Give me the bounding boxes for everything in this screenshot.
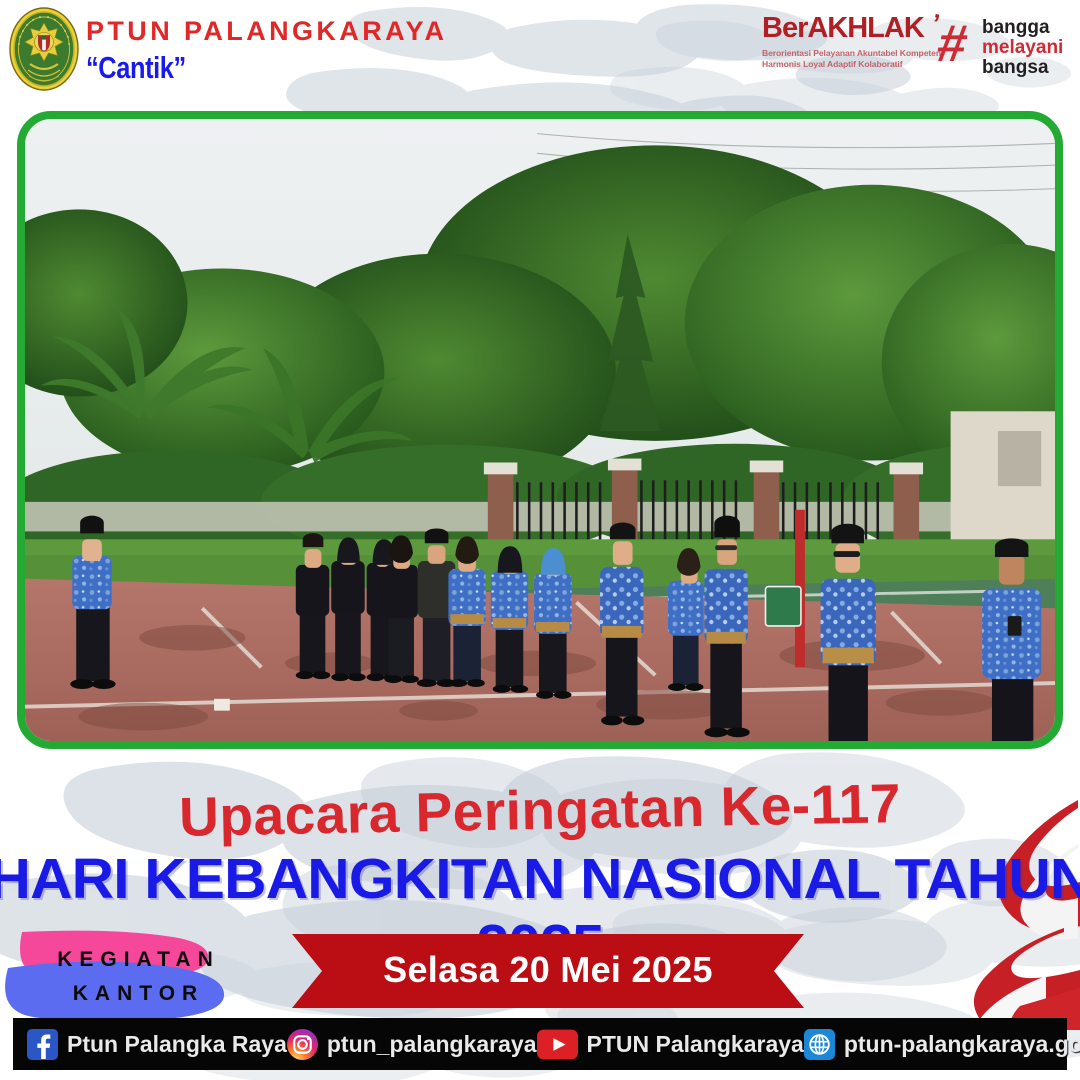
slogan-line-3: bangsa <box>982 58 1049 77</box>
badge-line-2: KANTOR <box>4 982 266 1006</box>
header: PTUN PALANGKARAYA “Cantik” BerAKHLAK ’ B… <box>0 0 1080 112</box>
organization-title: PTUN PALANGKARAYA <box>86 16 447 47</box>
badge-line-1: KEGIATAN <box>4 948 266 972</box>
organization-tagline: “Cantik” <box>86 50 186 86</box>
berakhlak-wordmark-text: BerAKHLAK <box>762 12 924 44</box>
berakhlak-sub-line-1: Berorientasi Pelayanan Akuntabel Kompete… <box>762 48 934 59</box>
berakhlak-wordmark: BerAKHLAK ’ <box>762 14 934 43</box>
social-website[interactable]: ptun-palangkaraya.go.id <box>804 1029 1080 1060</box>
hashtag-icon: # <box>934 18 971 70</box>
slogan-line-1: bangga <box>982 18 1050 37</box>
slogan-line-2: melayani <box>982 38 1063 57</box>
social-footer: Ptun Palangka Raya ptun_palangkaraya <box>13 1018 1067 1070</box>
ptun-seal-icon <box>8 6 80 92</box>
social-instagram[interactable]: ptun_palangkaraya <box>287 1029 537 1060</box>
youtube-icon <box>537 1029 578 1060</box>
berakhlak-sub-line-2: Harmonis Loyal Adaptif Kolaboratif <box>762 59 934 70</box>
youtube-label: PTUN Palangkaraya <box>587 1031 804 1058</box>
kegiatan-kantor-badge: KEGIATAN KANTOR <box>4 922 266 1022</box>
date-ribbon: Selasa 20 Mei 2025 <box>292 930 804 1012</box>
social-facebook[interactable]: Ptun Palangka Raya <box>27 1029 287 1060</box>
event-date: Selasa 20 Mei 2025 <box>292 930 804 1012</box>
facebook-icon <box>27 1029 58 1060</box>
website-label: ptun-palangkaraya.go.id <box>844 1031 1080 1058</box>
instagram-label: ptun_palangkaraya <box>327 1031 537 1058</box>
event-photo <box>17 111 1063 749</box>
berakhlak-logo: BerAKHLAK ’ Berorientasi Pelayanan Akunt… <box>762 8 1062 90</box>
berakhlak-sub-1-text: Berorientasi Pelayanan Akuntabel Kompete… <box>762 48 941 58</box>
social-youtube[interactable]: PTUN Palangkaraya <box>537 1029 804 1060</box>
facebook-label: Ptun Palangka Raya <box>67 1031 287 1058</box>
globe-icon <box>804 1029 835 1060</box>
berakhlak-sub-2-text: Harmonis Loyal Adaptif Kolaboratif <box>762 59 902 69</box>
instagram-icon <box>287 1029 318 1060</box>
headline-line-1: Upacara Peringatan Ke-117 <box>0 768 1080 853</box>
